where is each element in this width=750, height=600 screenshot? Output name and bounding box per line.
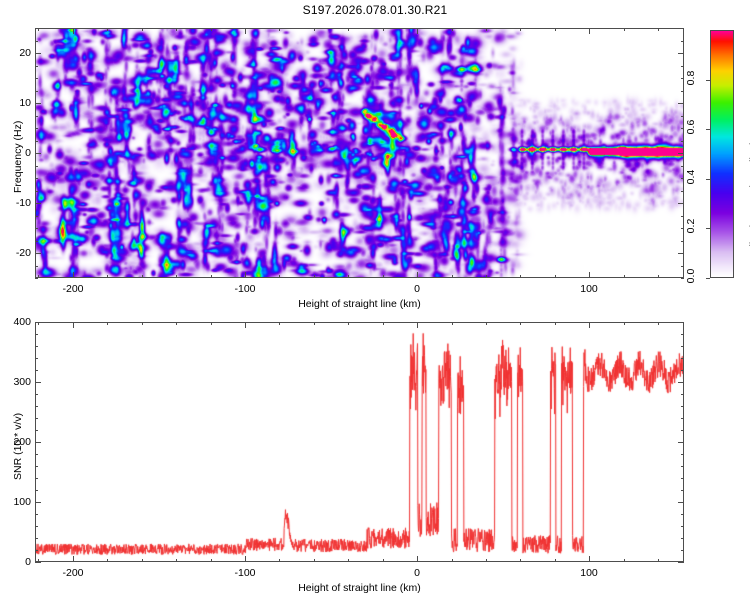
x-minor-tick	[486, 559, 487, 562]
y-minor-tick	[681, 266, 684, 267]
figure-title: S197.2026.078.01.30.R21	[0, 3, 750, 17]
y-minor-tick	[681, 430, 684, 431]
x-minor-tick	[520, 322, 521, 325]
y-minor-tick	[681, 550, 684, 551]
y-tick-label: 300	[1, 376, 31, 388]
y-tick-label: 0	[1, 556, 31, 568]
y-tick-label: 10	[1, 97, 31, 109]
y-minor-tick	[35, 334, 38, 335]
x-minor-tick	[107, 559, 108, 562]
x-minor-tick	[383, 322, 384, 325]
colorbar-tick-mark	[706, 278, 710, 279]
x-major-tick	[589, 322, 590, 328]
y-major-tick	[678, 502, 684, 503]
x-tick-label: 100	[580, 567, 598, 579]
y-major-tick	[35, 103, 41, 104]
x-major-tick	[589, 556, 590, 562]
x-major-tick	[245, 272, 246, 278]
x-minor-tick	[658, 275, 659, 278]
x-minor-tick	[555, 28, 556, 31]
colorbar-tick-label: 0.2	[685, 215, 697, 237]
x-minor-tick	[486, 28, 487, 31]
x-minor-tick	[314, 322, 315, 325]
colorbar-tick-label: 0.6	[685, 116, 697, 138]
y-minor-tick	[681, 394, 684, 395]
x-tick-label: -100	[234, 567, 255, 579]
x-minor-tick	[624, 322, 625, 325]
colorbar-group	[710, 30, 734, 278]
y-minor-tick	[35, 216, 38, 217]
spectrogram-canvas[interactable]	[36, 29, 684, 278]
y-minor-tick	[681, 490, 684, 491]
snr-y-axis-label: SNR (10 * v/v)	[12, 413, 24, 480]
y-minor-tick	[35, 178, 38, 179]
y-minor-tick	[35, 128, 38, 129]
y-minor-tick	[681, 358, 684, 359]
x-minor-tick	[555, 559, 556, 562]
x-minor-tick	[555, 322, 556, 325]
x-tick-label: 0	[414, 567, 420, 579]
x-minor-tick	[279, 322, 280, 325]
y-minor-tick	[35, 191, 38, 192]
x-major-tick	[589, 272, 590, 278]
y-major-tick	[35, 442, 41, 443]
x-minor-tick	[348, 275, 349, 278]
spectrogram-panel[interactable]	[35, 28, 684, 278]
x-minor-tick	[452, 322, 453, 325]
x-tick-label: -200	[62, 283, 83, 295]
x-minor-tick	[142, 275, 143, 278]
x-minor-tick	[520, 275, 521, 278]
x-minor-tick	[348, 28, 349, 31]
x-minor-tick	[107, 28, 108, 31]
x-minor-tick	[486, 275, 487, 278]
y-minor-tick	[681, 66, 684, 67]
x-minor-tick	[279, 559, 280, 562]
x-minor-tick	[176, 559, 177, 562]
x-minor-tick	[314, 275, 315, 278]
x-minor-tick	[658, 559, 659, 562]
x-minor-tick	[624, 275, 625, 278]
colorbar-tick-label: 0.8	[685, 67, 697, 89]
y-minor-tick	[681, 178, 684, 179]
y-minor-tick	[681, 128, 684, 129]
y-major-tick	[678, 103, 684, 104]
x-tick-label: -100	[234, 283, 255, 295]
x-major-tick	[245, 28, 246, 34]
colorbar-tick-mark	[706, 129, 710, 130]
colorbar-tick-mark	[706, 228, 710, 229]
y-minor-tick	[35, 466, 38, 467]
x-minor-tick	[211, 322, 212, 325]
y-major-tick	[678, 442, 684, 443]
y-minor-tick	[681, 141, 684, 142]
y-minor-tick	[35, 406, 38, 407]
y-minor-tick	[681, 191, 684, 192]
x-major-tick	[73, 322, 74, 328]
y-major-tick	[678, 153, 684, 154]
x-major-tick	[245, 556, 246, 562]
x-minor-tick	[658, 322, 659, 325]
x-major-tick	[73, 272, 74, 278]
x-major-tick	[589, 28, 590, 34]
spectrogram-x-axis-label: Height of straight line (km)	[35, 298, 684, 310]
x-minor-tick	[38, 28, 39, 31]
y-minor-tick	[35, 370, 38, 371]
x-minor-tick	[348, 559, 349, 562]
x-minor-tick	[658, 28, 659, 31]
y-minor-tick	[681, 28, 684, 29]
y-major-tick	[678, 203, 684, 204]
x-major-tick	[245, 322, 246, 328]
y-minor-tick	[681, 216, 684, 217]
x-minor-tick	[279, 275, 280, 278]
y-major-tick	[35, 53, 41, 54]
y-minor-tick	[681, 278, 684, 279]
y-minor-tick	[681, 478, 684, 479]
x-minor-tick	[279, 28, 280, 31]
x-minor-tick	[314, 28, 315, 31]
snr-canvas[interactable]	[36, 323, 684, 562]
y-minor-tick	[35, 514, 38, 515]
y-minor-tick	[681, 514, 684, 515]
y-minor-tick	[35, 394, 38, 395]
y-minor-tick	[35, 538, 38, 539]
x-tick-label: 100	[580, 283, 598, 295]
colorbar-gradient	[710, 30, 734, 278]
x-tick-label: 0	[414, 283, 420, 295]
y-minor-tick	[35, 550, 38, 551]
y-minor-tick	[35, 526, 38, 527]
y-tick-label: 20	[1, 47, 31, 59]
y-minor-tick	[681, 166, 684, 167]
x-minor-tick	[176, 28, 177, 31]
x-minor-tick	[142, 28, 143, 31]
x-minor-tick	[486, 322, 487, 325]
y-minor-tick	[681, 418, 684, 419]
y-major-tick	[35, 253, 41, 254]
y-minor-tick	[681, 241, 684, 242]
y-minor-tick	[681, 370, 684, 371]
y-minor-tick	[35, 418, 38, 419]
y-minor-tick	[35, 454, 38, 455]
spectrogram-y-axis-label: Frequency (Hz)	[12, 121, 24, 193]
snr-x-axis-label: Height of straight line (km)	[35, 582, 684, 594]
y-minor-tick	[35, 278, 38, 279]
x-minor-tick	[452, 275, 453, 278]
y-minor-tick	[681, 538, 684, 539]
x-minor-tick	[555, 275, 556, 278]
x-minor-tick	[211, 559, 212, 562]
y-tick-label: 400	[1, 316, 31, 328]
y-minor-tick	[35, 66, 38, 67]
y-major-tick	[35, 322, 41, 323]
x-major-tick	[73, 28, 74, 34]
x-minor-tick	[142, 559, 143, 562]
x-minor-tick	[383, 28, 384, 31]
colorbar-tick-mark	[706, 179, 710, 180]
x-minor-tick	[383, 559, 384, 562]
x-minor-tick	[520, 559, 521, 562]
x-major-tick	[417, 28, 418, 34]
y-minor-tick	[681, 41, 684, 42]
y-minor-tick	[35, 41, 38, 42]
y-minor-tick	[35, 78, 38, 79]
x-minor-tick	[211, 275, 212, 278]
x-major-tick	[417, 556, 418, 562]
y-minor-tick	[35, 241, 38, 242]
y-minor-tick	[681, 228, 684, 229]
x-major-tick	[417, 272, 418, 278]
y-minor-tick	[35, 141, 38, 142]
y-minor-tick	[35, 91, 38, 92]
x-minor-tick	[38, 275, 39, 278]
x-minor-tick	[452, 28, 453, 31]
y-major-tick	[678, 382, 684, 383]
x-minor-tick	[176, 275, 177, 278]
y-major-tick	[35, 203, 41, 204]
y-minor-tick	[681, 346, 684, 347]
y-major-tick	[35, 502, 41, 503]
y-minor-tick	[35, 430, 38, 431]
colorbar-tick-mark	[706, 80, 710, 81]
x-minor-tick	[314, 559, 315, 562]
x-minor-tick	[142, 322, 143, 325]
y-minor-tick	[681, 526, 684, 527]
y-minor-tick	[681, 334, 684, 335]
y-tick-label: -20	[1, 247, 31, 259]
x-major-tick	[417, 322, 418, 328]
x-tick-label: -200	[62, 567, 83, 579]
y-minor-tick	[681, 466, 684, 467]
y-minor-tick	[35, 346, 38, 347]
x-minor-tick	[383, 275, 384, 278]
y-minor-tick	[35, 490, 38, 491]
y-minor-tick	[35, 358, 38, 359]
x-minor-tick	[176, 322, 177, 325]
y-minor-tick	[681, 406, 684, 407]
y-tick-label: 100	[1, 496, 31, 508]
x-minor-tick	[107, 322, 108, 325]
x-minor-tick	[107, 275, 108, 278]
y-major-tick	[35, 382, 41, 383]
y-major-tick	[678, 322, 684, 323]
y-major-tick	[678, 253, 684, 254]
x-minor-tick	[624, 28, 625, 31]
y-minor-tick	[35, 166, 38, 167]
figure-root: S197.2026.078.01.30.R21 -200-1000100-20-…	[0, 0, 750, 600]
snr-panel[interactable]	[35, 322, 684, 562]
y-major-tick	[35, 562, 41, 563]
x-major-tick	[73, 556, 74, 562]
y-minor-tick	[681, 116, 684, 117]
x-minor-tick	[624, 559, 625, 562]
colorbar-tick-label: 0.0	[685, 265, 697, 287]
y-tick-label: -10	[1, 197, 31, 209]
y-major-tick	[35, 153, 41, 154]
y-major-tick	[678, 562, 684, 563]
y-minor-tick	[35, 266, 38, 267]
y-minor-tick	[35, 228, 38, 229]
x-minor-tick	[348, 322, 349, 325]
y-major-tick	[678, 53, 684, 54]
colorbar-tick-label: 0.4	[685, 166, 697, 188]
y-minor-tick	[681, 91, 684, 92]
x-minor-tick	[211, 28, 212, 31]
x-minor-tick	[520, 28, 521, 31]
y-minor-tick	[681, 454, 684, 455]
x-minor-tick	[452, 559, 453, 562]
y-minor-tick	[35, 116, 38, 117]
y-minor-tick	[681, 78, 684, 79]
y-minor-tick	[35, 28, 38, 29]
y-minor-tick	[35, 478, 38, 479]
